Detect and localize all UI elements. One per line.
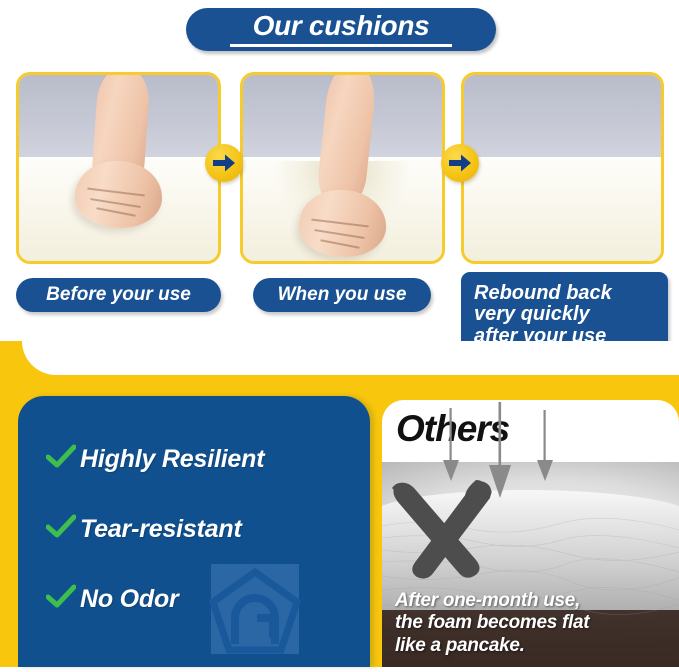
check-icon [46,514,80,545]
foam-during-use-photo [240,72,445,264]
knuckle-line [87,188,145,197]
caption-line-1: Rebound back [474,283,612,305]
knuckle-line [315,229,365,239]
foam-slab [464,157,661,261]
foam-scene [464,75,661,261]
knuckle-line [96,208,136,218]
feature-label: Tear-resistant [80,515,242,544]
fist-shape [299,190,387,257]
others-caption-line-2: the foam becomes flat [395,612,589,634]
foam-before-use-photo [16,72,221,264]
others-caption-line-3: like a pancake. [395,635,589,657]
check-icon [46,584,80,615]
fist-shape [75,161,163,228]
others-comparison-panel: Others After one-month us [382,400,679,667]
caption-before-your-use: Before your use [16,278,221,312]
arrow-down-icon [440,408,462,487]
features-list: Highly Resilient Tear-resistant No Odor [46,432,360,642]
caption-text: Before your use [46,284,191,306]
feature-item-no-odor: No Odor [46,572,360,626]
knuckle-line [311,219,369,228]
foam-scene [19,75,218,261]
caption-text: When you use [278,284,407,306]
features-panel: Highly Resilient Tear-resistant No Odor [18,396,370,667]
caption-line-2: very quickly [474,304,590,326]
others-caption-line-1: After one-month use, [395,590,589,612]
feature-item-tear-resistant: Tear-resistant [46,502,360,556]
yellow-band-notch [22,341,679,375]
feature-label: Highly Resilient [80,445,264,474]
foam-after-use-photo [461,72,664,264]
page-title-banner: Our cushions [186,8,496,51]
arrow-down-icon [534,410,556,489]
page-title: Our cushions [253,12,430,40]
arrow-right-icon [441,144,479,182]
knuckle-line [320,239,360,249]
photo-background-wall [464,75,661,164]
arrow-right-icon [205,144,243,182]
x-brush-stroke-icon [388,478,500,587]
caption-when-you-use: When you use [253,278,431,312]
check-icon [46,444,80,475]
foam-scene [243,75,442,261]
feature-label: No Odor [80,585,179,614]
title-underline [230,44,452,47]
pentagon-house-logo-watermark [205,562,305,667]
feature-item-highly-resilient: Highly Resilient [46,432,360,486]
others-caption: After one-month use, the foam becomes fl… [395,590,589,657]
